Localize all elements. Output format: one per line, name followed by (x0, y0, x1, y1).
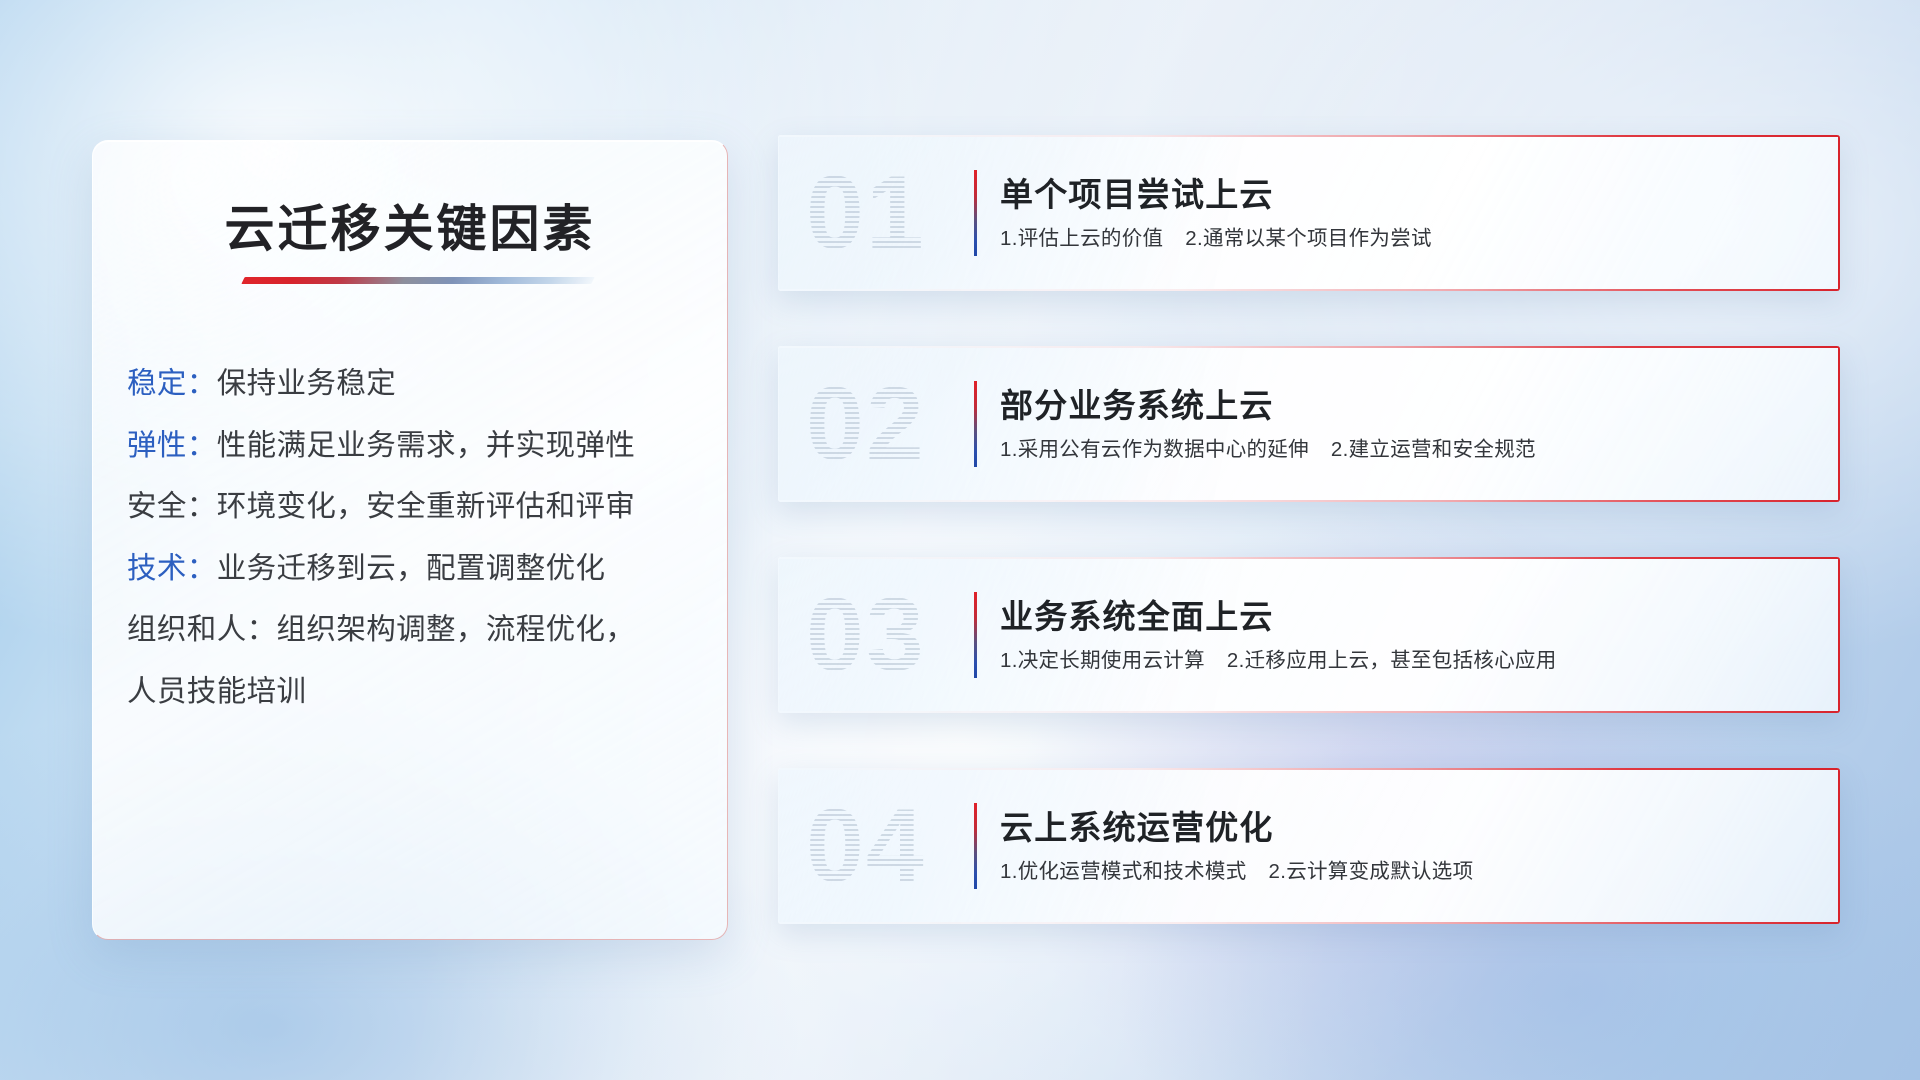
card-title: 单个项目尝试上云 (1000, 175, 1816, 215)
card-subtitle-point-2: 2.迁移应用上云，甚至包括核心应用 (1227, 648, 1557, 671)
list-item-text: 环境变化，安全重新评估和评审 (217, 490, 636, 523)
stage-card-04[interactable]: 04 云上系统运营优化 1.优化运营模式和技术模式2.云计算变成默认选项 (778, 768, 1840, 924)
list-item-text: 组织架构调整，流程优化， (277, 613, 636, 646)
card-right-accent (1838, 557, 1840, 713)
card-bottom-accent (778, 500, 1840, 502)
card-right-accent (1838, 346, 1840, 502)
stage-card-02[interactable]: 02 部分业务系统上云 1.采用公有云作为数据中心的延伸2.建立运营和安全规范 (778, 346, 1840, 502)
card-title: 部分业务系统上云 (1000, 386, 1816, 426)
list-item: 弹性：性能满足业务需求，并实现弹性 (127, 431, 699, 461)
card-right-accent (1838, 768, 1840, 924)
card-subtitle-point-2: 2.云计算变成默认选项 (1269, 859, 1474, 882)
card-bottom-accent (778, 922, 1840, 924)
card-number-watermark: 04 (806, 794, 926, 898)
card-subtitle-point-1: 1.采用公有云作为数据中心的延伸 (1000, 437, 1309, 460)
card-subtitle: 1.决定长期使用云计算2.迁移应用上云，甚至包括核心应用 (1000, 647, 1816, 673)
card-top-accent (778, 768, 1840, 770)
list-item-label: 安全： (127, 490, 217, 523)
card-subtitle-point-1: 1.优化运营模式和技术模式 (1000, 859, 1247, 882)
card-number-watermark: 02 (806, 372, 926, 476)
card-bottom-accent (778, 289, 1840, 291)
list-item: 安全：环境变化，安全重新评估和评审 (127, 492, 699, 522)
card-number-watermark: 01 (806, 161, 926, 265)
list-item: 技术：业务迁移到云，配置调整优化 (127, 554, 699, 584)
card-subtitle-point-2: 2.建立运营和安全规范 (1331, 437, 1536, 460)
card-left-edge (778, 135, 779, 291)
card-top-accent (778, 557, 1840, 559)
card-content: 单个项目尝试上云 1.评估上云的价值2.通常以某个项目作为尝试 (1000, 175, 1816, 251)
card-subtitle-point-2: 2.通常以某个项目作为尝试 (1185, 226, 1432, 249)
card-subtitle-point-1: 1.评估上云的价值 (1000, 226, 1163, 249)
card-subtitle: 1.评估上云的价值2.通常以某个项目作为尝试 (1000, 225, 1816, 251)
slide-stage: 云迁移关键因素 稳定：保持业务稳定 弹性：性能满足业务需求，并实现弹性 安全：环… (0, 0, 1920, 1080)
card-bottom-accent (778, 711, 1840, 713)
list-item-text: 业务迁移到云，配置调整优化 (217, 552, 606, 585)
card-title: 云上系统运营优化 (1000, 808, 1816, 848)
list-item: 稳定：保持业务稳定 (127, 369, 699, 399)
card-divider-bar (974, 592, 977, 678)
list-item-label: 技术： (127, 552, 217, 585)
page-title: 云迁移关键因素 (93, 189, 727, 261)
title-underline-accent (241, 277, 594, 284)
key-factors-panel: 云迁移关键因素 稳定：保持业务稳定 弹性：性能满足业务需求，并实现弹性 安全：环… (92, 140, 728, 940)
card-top-accent (778, 135, 1840, 137)
list-item-label: 稳定： (127, 367, 217, 400)
card-left-edge (778, 557, 779, 713)
stage-card-03[interactable]: 03 业务系统全面上云 1.决定长期使用云计算2.迁移应用上云，甚至包括核心应用 (778, 557, 1840, 713)
list-item-text: 保持业务稳定 (217, 367, 396, 400)
list-item-label: 组织和人： (127, 613, 277, 646)
list-item-label: 弹性： (127, 429, 217, 462)
card-title: 业务系统全面上云 (1000, 597, 1816, 637)
card-content: 部分业务系统上云 1.采用公有云作为数据中心的延伸2.建立运营和安全规范 (1000, 386, 1816, 462)
card-left-edge (778, 768, 779, 924)
key-factors-list: 稳定：保持业务稳定 弹性：性能满足业务需求，并实现弹性 安全：环境变化，安全重新… (127, 369, 699, 706)
card-divider-bar (974, 170, 977, 256)
list-item-text: 性能满足业务需求，并实现弹性 (217, 429, 636, 462)
card-content: 业务系统全面上云 1.决定长期使用云计算2.迁移应用上云，甚至包括核心应用 (1000, 597, 1816, 673)
card-subtitle: 1.采用公有云作为数据中心的延伸2.建立运营和安全规范 (1000, 436, 1816, 462)
card-right-accent (1838, 135, 1840, 291)
card-content: 云上系统运营优化 1.优化运营模式和技术模式2.云计算变成默认选项 (1000, 808, 1816, 884)
card-divider-bar (974, 381, 977, 467)
card-divider-bar (974, 803, 977, 889)
card-left-edge (778, 346, 779, 502)
card-subtitle-point-1: 1.决定长期使用云计算 (1000, 648, 1205, 671)
stage-card-01[interactable]: 01 单个项目尝试上云 1.评估上云的价值2.通常以某个项目作为尝试 (778, 135, 1840, 291)
stage-cards-list: 01 单个项目尝试上云 1.评估上云的价值2.通常以某个项目作为尝试 02 部分… (778, 135, 1840, 924)
card-top-accent (778, 346, 1840, 348)
list-item-continuation: 人员技能培训 (127, 677, 699, 707)
card-number-watermark: 03 (806, 583, 926, 687)
list-item-text: 人员技能培训 (127, 675, 306, 708)
card-subtitle: 1.优化运营模式和技术模式2.云计算变成默认选项 (1000, 858, 1816, 884)
list-item: 组织和人：组织架构调整，流程优化， (127, 615, 699, 645)
